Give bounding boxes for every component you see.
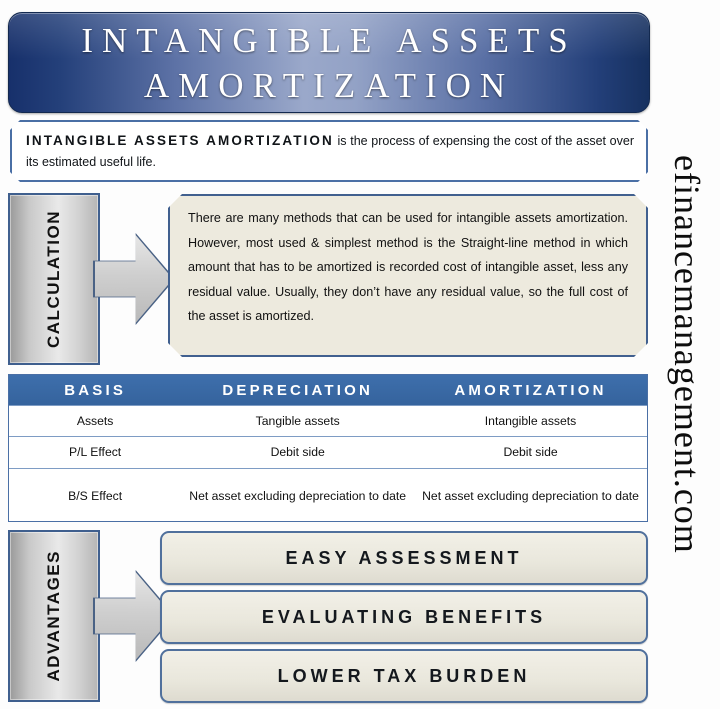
table-cell-amortization: Intangible assets bbox=[414, 406, 647, 436]
table-header-basis: BASIS bbox=[9, 382, 181, 399]
advantage-item-2: EVALUATING BENEFITS bbox=[160, 590, 648, 644]
definition-text: INTANGIBLE ASSETS AMORTIZATION is the pr… bbox=[26, 130, 634, 173]
table-cell-amortization: Debit side bbox=[414, 437, 647, 468]
watermark-text: efinancemanagement.com bbox=[666, 155, 708, 554]
definition-lead: INTANGIBLE ASSETS AMORTIZATION bbox=[26, 133, 334, 148]
table-cell-basis: P/L Effect bbox=[9, 437, 181, 468]
definition-box: INTANGIBLE ASSETS AMORTIZATION is the pr… bbox=[10, 120, 648, 182]
calculation-text: There are many methods that can be used … bbox=[188, 206, 628, 329]
comparison-table: BASIS DEPRECIATION AMORTIZATION Assets T… bbox=[8, 374, 648, 522]
table-cell-basis: Assets bbox=[9, 406, 181, 436]
watermark: efinancemanagement.com bbox=[656, 0, 718, 709]
advantage-item-2-label: EVALUATING BENEFITS bbox=[262, 607, 546, 628]
title-banner: INTANGIBLE ASSETS AMORTIZATION bbox=[8, 12, 650, 113]
section-label-calculation: CALCULATION bbox=[8, 193, 100, 365]
table-header-amortization: AMORTIZATION bbox=[414, 382, 647, 399]
title-line-1: INTANGIBLE ASSETS bbox=[81, 18, 576, 63]
section-label-advantages: ADVANTAGES bbox=[8, 530, 100, 702]
table-header-row: BASIS DEPRECIATION AMORTIZATION bbox=[9, 375, 647, 405]
title-line-2: AMORTIZATION bbox=[144, 63, 514, 108]
table-cell-amortization: Net asset excluding depreciation to date bbox=[414, 469, 647, 524]
table-header-depreciation: DEPRECIATION bbox=[181, 382, 414, 399]
infographic-root: INTANGIBLE ASSETS AMORTIZATION INTANGIBL… bbox=[0, 0, 720, 709]
table-cell-depreciation: Net asset excluding depreciation to date bbox=[181, 469, 414, 524]
table-cell-depreciation: Debit side bbox=[181, 437, 414, 468]
advantage-item-1: EASY ASSESSMENT bbox=[160, 531, 648, 585]
section-label-advantages-text: ADVANTAGES bbox=[44, 550, 64, 682]
section-label-calculation-text: CALCULATION bbox=[44, 210, 64, 348]
advantage-item-1-label: EASY ASSESSMENT bbox=[285, 548, 522, 569]
table-cell-depreciation: Tangible assets bbox=[181, 406, 414, 436]
advantage-item-3: LOWER TAX BURDEN bbox=[160, 649, 648, 703]
table-row: B/S Effect Net asset excluding depreciat… bbox=[9, 468, 647, 524]
table-row: Assets Tangible assets Intangible assets bbox=[9, 405, 647, 436]
calculation-content-box: There are many methods that can be used … bbox=[168, 194, 648, 357]
advantage-item-3-label: LOWER TAX BURDEN bbox=[278, 666, 531, 687]
table-cell-basis: B/S Effect bbox=[9, 469, 181, 524]
arrow-calculation-icon bbox=[95, 235, 173, 323]
table-row: P/L Effect Debit side Debit side bbox=[9, 436, 647, 468]
